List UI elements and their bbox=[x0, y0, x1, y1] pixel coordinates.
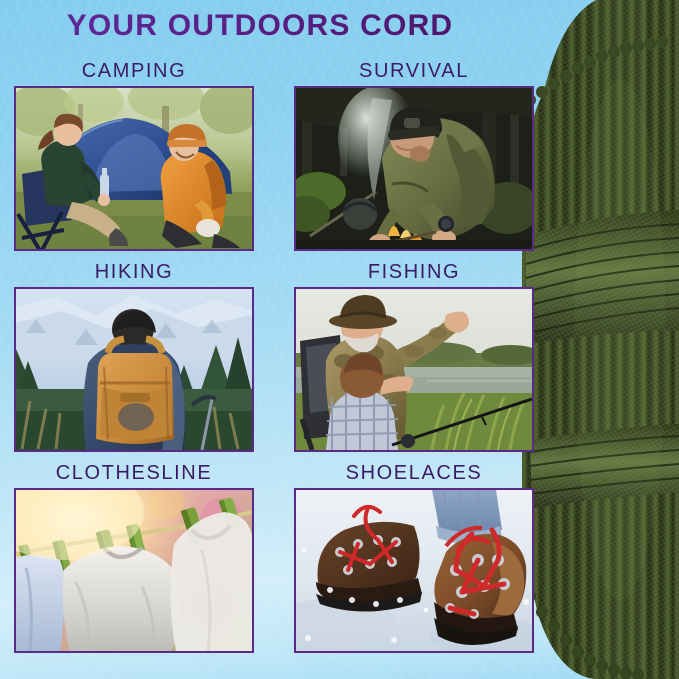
use-case-label: CAMPING bbox=[14, 56, 254, 86]
content-column: YOUR OUTDOORS CORD CAMPING bbox=[0, 0, 520, 679]
use-case-clothesline[interactable]: CLOTHESLINE bbox=[14, 458, 254, 653]
use-case-label: HIKING bbox=[14, 257, 254, 287]
use-case-grid: CAMPING bbox=[0, 56, 520, 659]
use-case-row: CLOTHESLINE bbox=[0, 458, 520, 653]
use-case-survival[interactable]: SURVIVAL bbox=[294, 56, 534, 251]
hiking-photo-frame bbox=[14, 287, 254, 452]
fishing-photo bbox=[296, 289, 532, 450]
page-title: YOUR OUTDOORS CORD bbox=[0, 9, 520, 43]
clothesline-photo-frame bbox=[14, 488, 254, 653]
use-case-label: SHOELACES bbox=[294, 458, 534, 488]
use-case-hiking[interactable]: HIKING bbox=[14, 257, 254, 452]
shoelaces-photo-frame bbox=[294, 488, 534, 653]
use-case-row: HIKING bbox=[0, 257, 520, 452]
use-case-camping[interactable]: CAMPING bbox=[14, 56, 254, 251]
camping-photo-frame bbox=[14, 86, 254, 251]
use-case-label: SURVIVAL bbox=[294, 56, 534, 86]
camping-photo bbox=[16, 88, 252, 249]
use-case-label: FISHING bbox=[294, 257, 534, 287]
hiking-photo bbox=[16, 289, 252, 450]
use-case-row: CAMPING bbox=[0, 56, 520, 251]
survival-photo bbox=[296, 88, 532, 249]
clothesline-photo bbox=[16, 490, 252, 651]
fishing-photo-frame bbox=[294, 287, 534, 452]
use-case-shoelaces[interactable]: SHOELACES bbox=[294, 458, 534, 653]
use-case-label: CLOTHESLINE bbox=[14, 458, 254, 488]
use-case-fishing[interactable]: FISHING bbox=[294, 257, 534, 452]
survival-photo-frame bbox=[294, 86, 534, 251]
shoelaces-photo bbox=[296, 490, 532, 651]
infographic-canvas: YOUR OUTDOORS CORD CAMPING bbox=[0, 0, 679, 679]
